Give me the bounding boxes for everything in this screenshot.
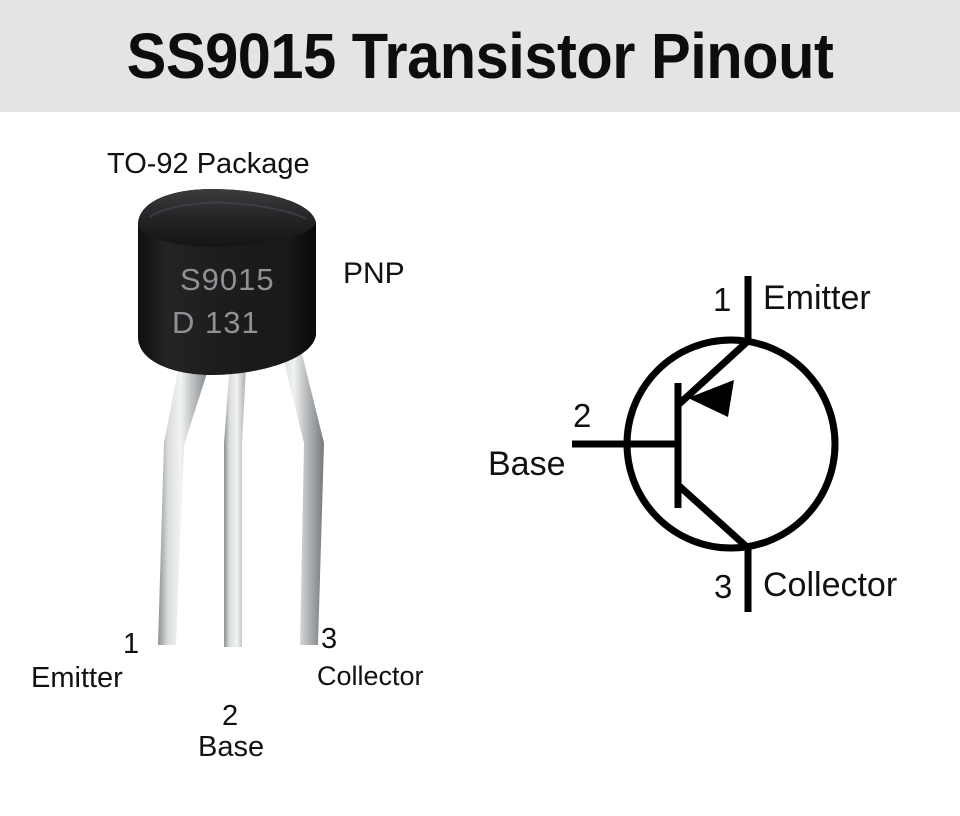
photo-pin-1-number: 1 (123, 630, 139, 659)
package-type-label: TO-92 Package (107, 150, 310, 179)
schematic-pin-2-number: 2 (573, 399, 591, 432)
schematic-pin-1-name: Emitter (763, 281, 871, 315)
photo-pin-2-name: Base (198, 733, 264, 762)
photo-pin-2-number: 2 (222, 702, 238, 731)
transistor-photo: S9015 D 131 (120, 185, 380, 705)
schematic-pin-3-name: Collector (763, 568, 897, 602)
schematic-pin-1-number: 1 (713, 283, 731, 316)
page-title: SS9015 Transistor Pinout (34, 0, 927, 112)
title-banner: SS9015 Transistor Pinout (0, 0, 960, 112)
pinout-diagram-page: SS9015 Transistor Pinout TO-92 Package P… (0, 0, 960, 816)
marking-line-1: S9015 (180, 262, 275, 297)
photo-pin-1-name: Emitter (31, 664, 123, 693)
photo-pin-3-name: Collector (317, 663, 424, 690)
schematic-pin-2-name: Base (488, 447, 566, 481)
marking-line-2: D 131 (172, 305, 260, 340)
schematic-pin-3-number: 3 (714, 570, 732, 603)
photo-pin-3-number: 3 (321, 625, 337, 654)
